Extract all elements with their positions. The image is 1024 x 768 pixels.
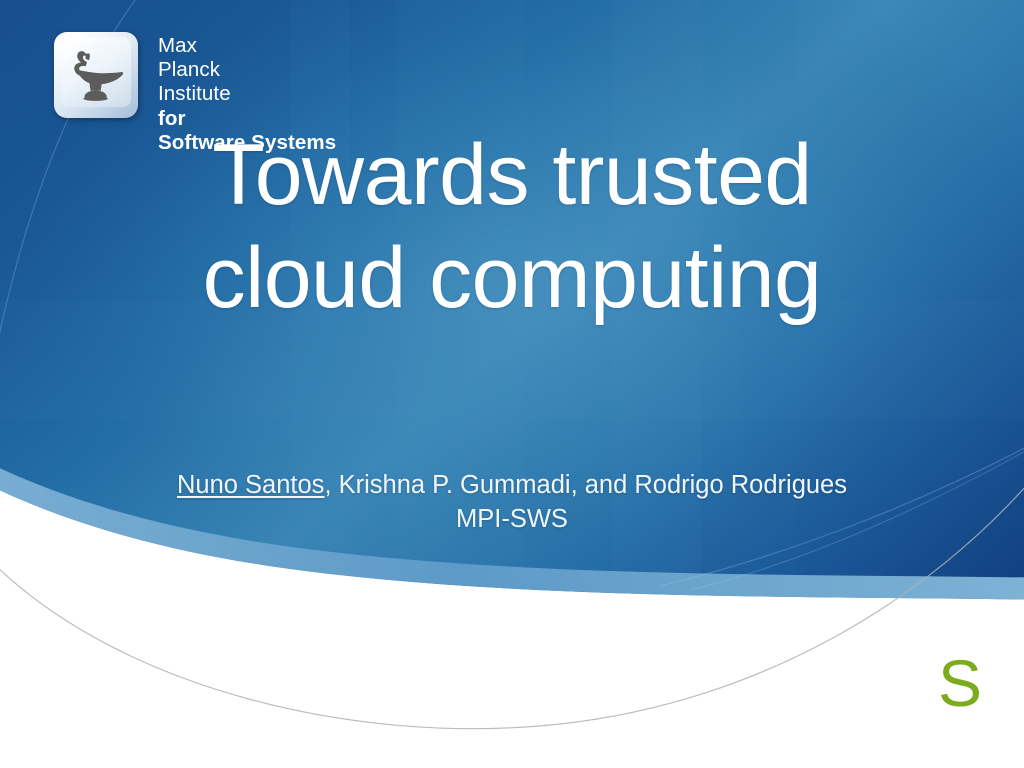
slide-title: Towards trusted cloud computing — [150, 124, 874, 330]
presenter-name: Nuno Santos — [177, 471, 324, 499]
slide-subtitle: Nuno Santos, Krishna P. Gummadi, and Rod… — [120, 468, 904, 536]
corner-s-glyph: S — [925, 650, 995, 716]
title-slide: Max Planck Institute for Software System… — [0, 0, 1024, 768]
coauthor-names: , Krishna P. Gummadi, and Rodrigo Rodrig… — [324, 471, 847, 499]
mpi-oil-lamp-keycap-icon — [52, 30, 140, 122]
author-line: Nuno Santos, Krishna P. Gummadi, and Rod… — [120, 468, 904, 502]
logo-line-max: Max — [158, 34, 336, 58]
logo-line-planck: Planck — [158, 58, 336, 82]
affiliation-line: MPI-SWS — [120, 502, 904, 536]
logo-line-institute: Institute — [158, 82, 336, 106]
